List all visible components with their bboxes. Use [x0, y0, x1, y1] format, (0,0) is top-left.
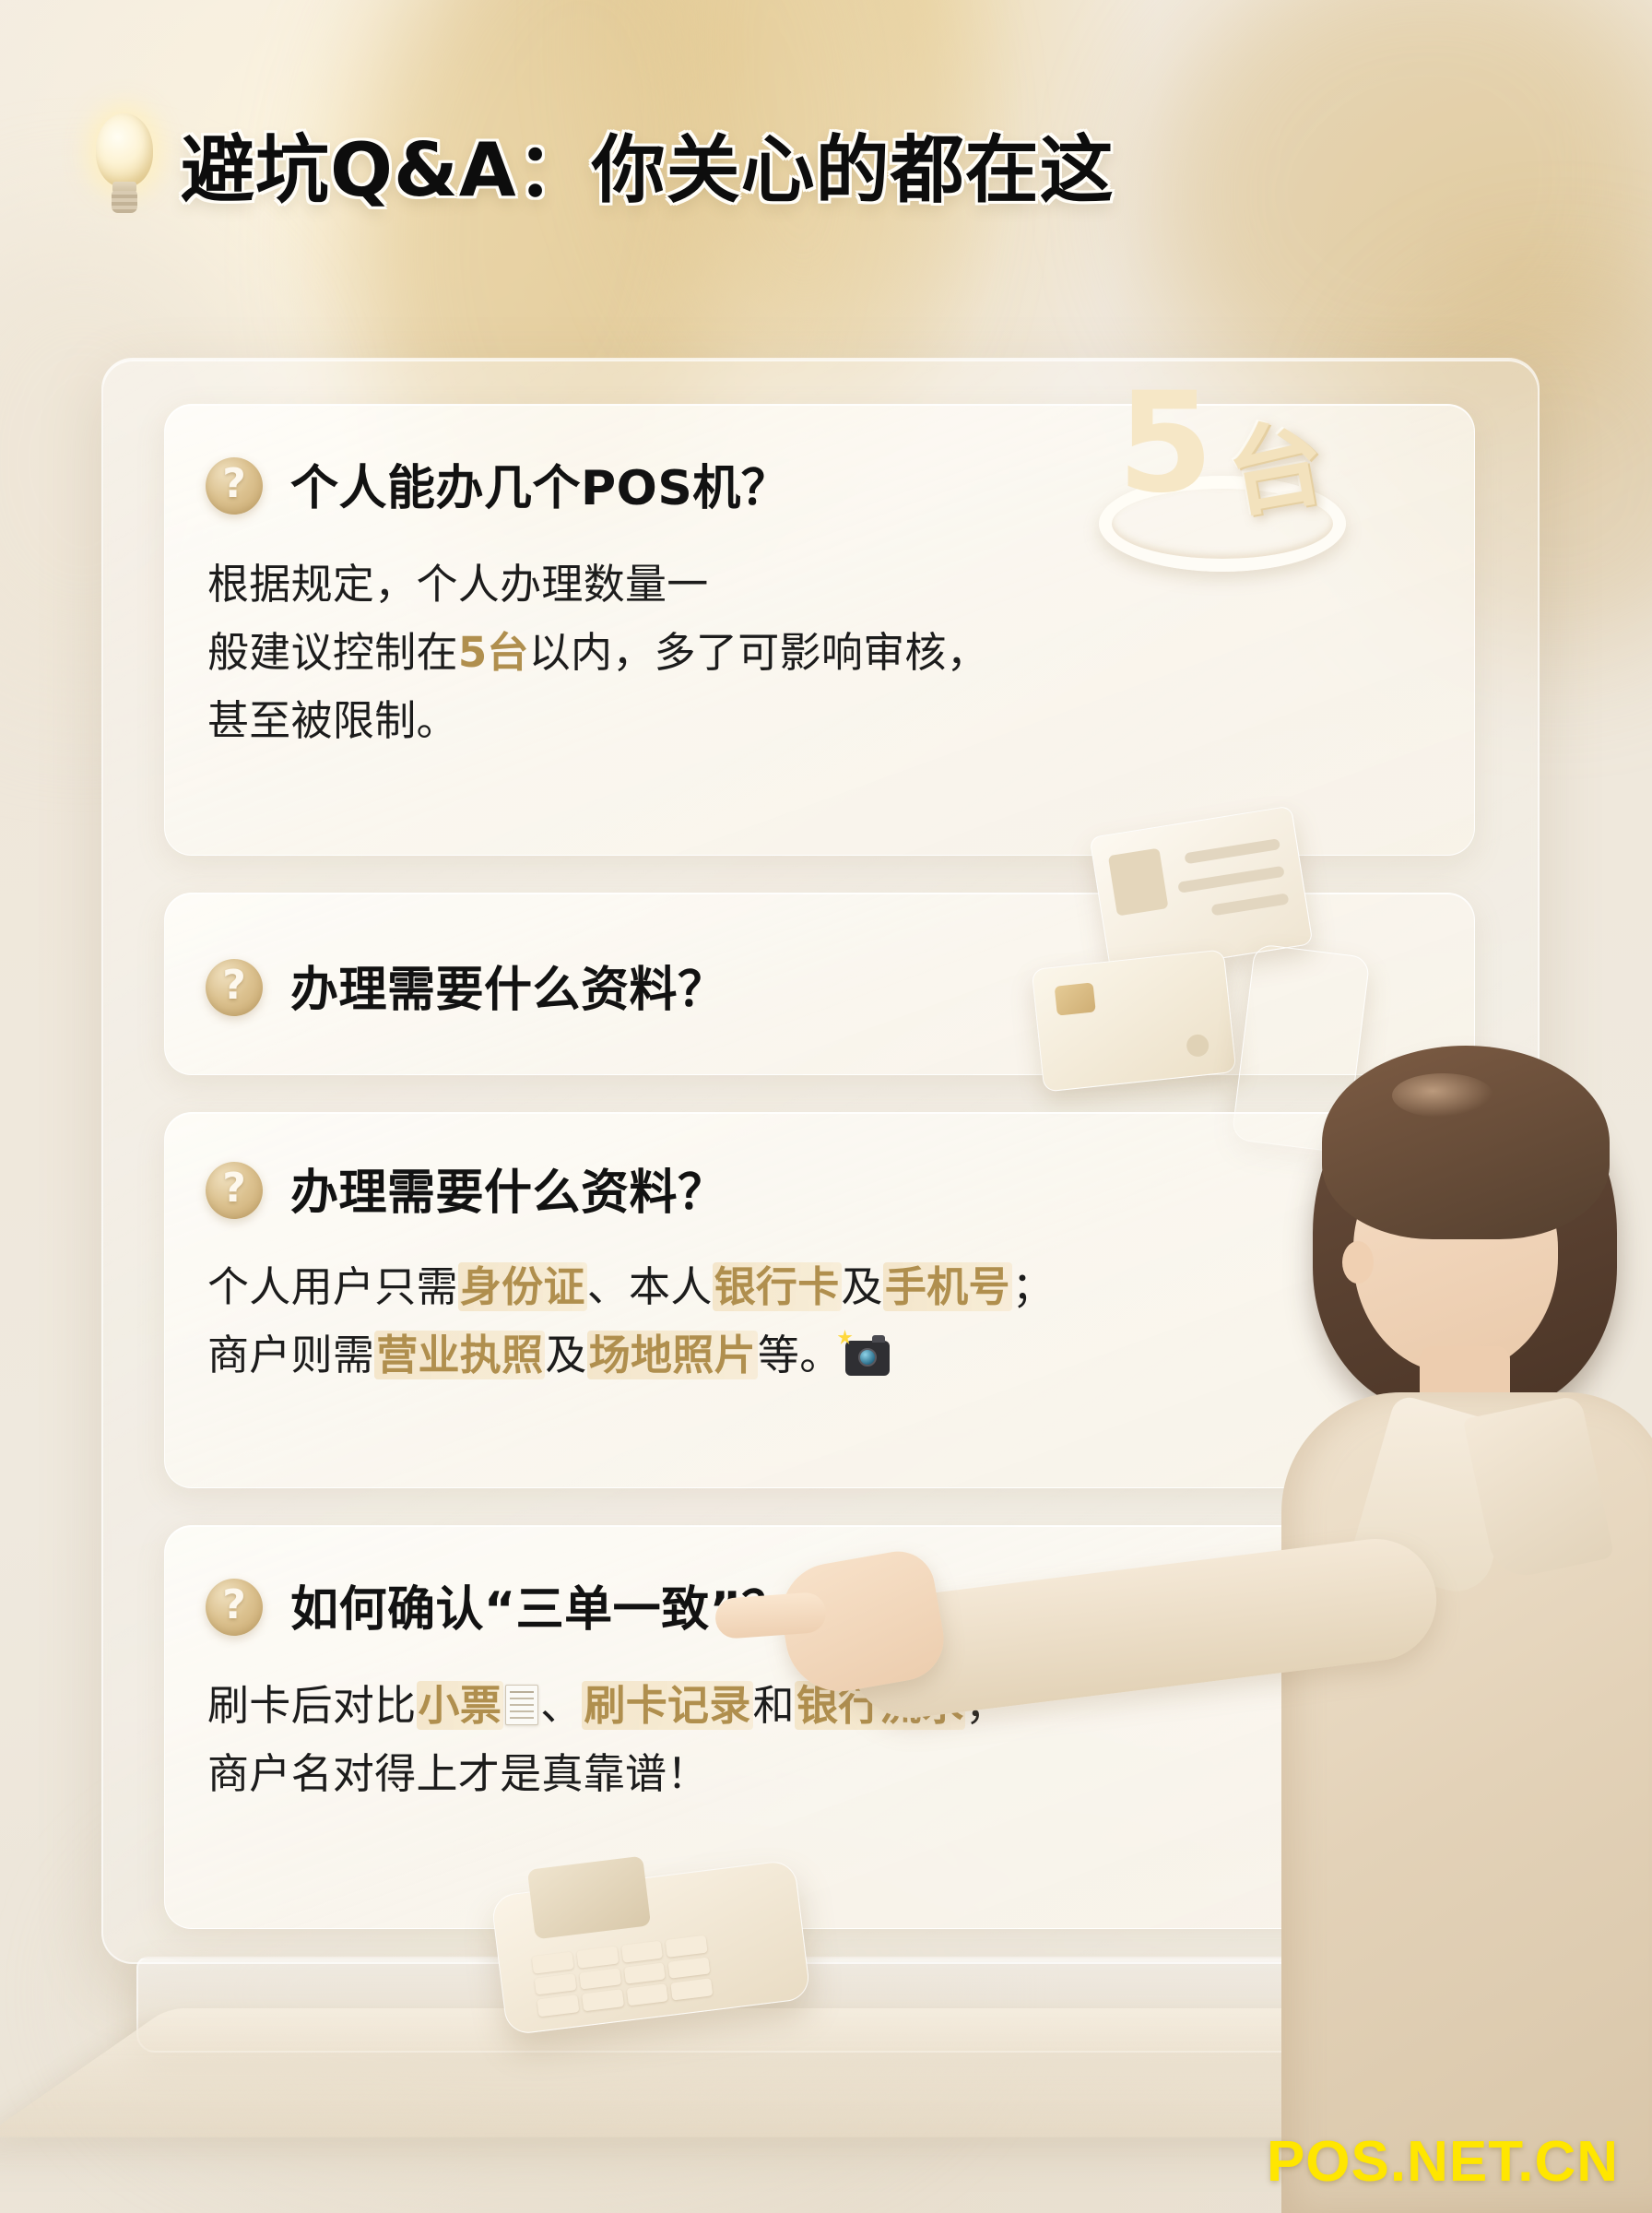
receipt-icon: [505, 1685, 538, 1725]
highlight-receipt: 小票: [417, 1681, 504, 1730]
question-mark-icon: ?: [206, 1162, 263, 1219]
qa-card-1-header: ? 个人能办几个POS机？: [206, 447, 798, 524]
qa-card-2-header: ? 办理需要什么资料？: [206, 949, 736, 1025]
hair-front: [1322, 1046, 1610, 1239]
woman-character-3d: [1281, 1042, 1652, 2213]
page-title-row: 避坑Q&A：你关心的都在这: [88, 109, 1167, 219]
pos-terminal-screen: [527, 1856, 651, 1940]
highlight-5units: 5台: [458, 628, 529, 677]
qa-card-1-question: 个人能办几个POS机？: [285, 447, 798, 524]
lightbulb-icon: [88, 113, 160, 215]
qa-card-1-answer-line-2: 般建议控制在5台以内，多了可影响审核，: [207, 619, 988, 687]
ear: [1342, 1241, 1374, 1284]
qa-card-3-answer-line-2: 商户则需营业执照及场地照片等。: [207, 1321, 893, 1390]
qa-card-3-question: 办理需要什么资料？: [285, 1152, 736, 1228]
page-title: 避坑Q&A：你关心的都在这: [181, 111, 1115, 218]
highlight-card-record: 刷卡记录: [582, 1681, 752, 1730]
watermark: POS.NET.CN: [1267, 2134, 1619, 2191]
qa-card-2-question: 办理需要什么资料？: [285, 949, 736, 1025]
pos-terminal-3d: [498, 1844, 830, 2038]
camera-icon: [845, 1341, 890, 1376]
hair-highlight: [1392, 1073, 1493, 1118]
question-mark-icon: ?: [206, 1579, 263, 1636]
question-mark-icon: ?: [206, 457, 263, 515]
highlight-id-card: 身份证: [458, 1262, 587, 1311]
question-mark-icon: ?: [206, 959, 263, 1016]
qa-card-4-header: ? 如何确认“三单一致”？: [206, 1568, 799, 1645]
highlight-bank-card: 银行卡: [713, 1262, 842, 1311]
qa-card-3-header: ? 办理需要什么资料？: [206, 1152, 736, 1228]
qa-card-2[interactable]: ? 办理需要什么资料？: [164, 893, 1475, 1075]
highlight-site-photo: 场地照片: [587, 1331, 758, 1379]
highlight-phone-number: 手机号: [883, 1262, 1012, 1311]
qa-card-1-answer-line-3: 甚至被限制。: [207, 687, 458, 755]
qa-card-3-answer-line-1: 个人用户只需身份证、本人银行卡及手机号；: [207, 1253, 1054, 1321]
qa-card-4-answer-line-2: 商户名对得上才是真靠谱！: [207, 1740, 709, 1808]
qa-card-1-answer-line-1: 根据规定，个人办理数量一: [207, 550, 709, 619]
qa-card-1[interactable]: ? 个人能办几个POS机？ 根据规定，个人办理数量一 般建议控制在5台以内，多了…: [164, 404, 1475, 856]
qa-card-3[interactable]: ? 办理需要什么资料？ 个人用户只需身份证、本人银行卡及手机号； 商户则需营业执…: [164, 1112, 1475, 1488]
pointing-finger: [714, 1592, 828, 1639]
highlight-business-license: 营业执照: [374, 1331, 545, 1379]
